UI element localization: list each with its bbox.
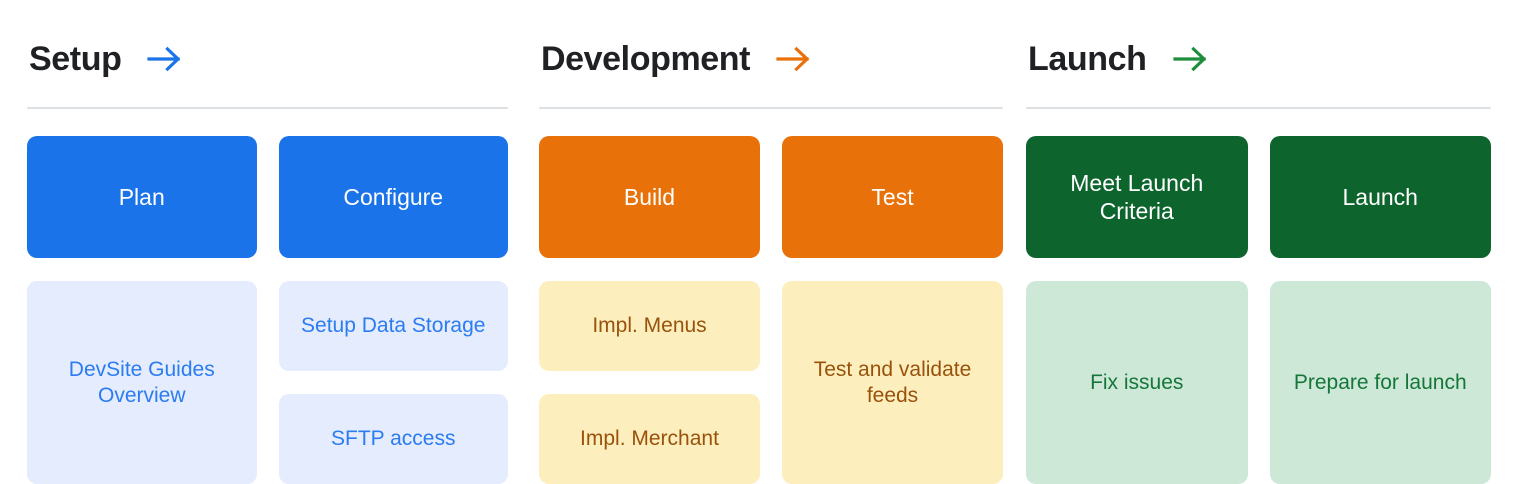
card-sftp-access[interactable]: SFTP access xyxy=(279,394,509,484)
arrow-right-icon xyxy=(147,45,183,73)
phase-launch-title: Launch xyxy=(1028,42,1147,76)
phase-launch-divider xyxy=(1026,107,1491,109)
phase-setup: Setup Plan DevSite Guides Overview Confi… xyxy=(0,0,520,484)
subcards-test: Test and validate feeds xyxy=(782,281,1003,484)
column-configure: Configure Setup Data Storage SFTP access xyxy=(279,136,509,484)
workflow-board: Setup Plan DevSite Guides Overview Confi… xyxy=(0,0,1518,484)
card-prepare-for-launch[interactable]: Prepare for launch xyxy=(1270,281,1492,484)
card-build[interactable]: Build xyxy=(539,136,760,258)
column-test: Test Test and validate feeds xyxy=(782,136,1003,484)
column-build: Build Impl. Menus Impl. Merchant xyxy=(539,136,760,484)
card-impl-merchant[interactable]: Impl. Merchant xyxy=(539,394,760,484)
card-test[interactable]: Test xyxy=(782,136,1003,258)
subcards-meet-launch-criteria: Fix issues xyxy=(1026,281,1248,484)
phase-launch-header: Launch xyxy=(1026,30,1491,88)
card-configure[interactable]: Configure xyxy=(279,136,509,258)
arrow-right-icon xyxy=(1173,45,1209,73)
card-test-and-validate-feeds[interactable]: Test and validate feeds xyxy=(782,281,1003,484)
column-launch: Launch Prepare for launch xyxy=(1270,136,1492,484)
card-meet-launch-criteria[interactable]: Meet Launch Criteria xyxy=(1026,136,1248,258)
phase-setup-title: Setup xyxy=(29,42,121,76)
phase-setup-header: Setup xyxy=(27,30,508,88)
phase-setup-cards: Plan DevSite Guides Overview Configure S… xyxy=(27,136,508,484)
subcards-configure: Setup Data Storage SFTP access xyxy=(279,281,509,484)
column-meet-launch-criteria: Meet Launch Criteria Fix issues xyxy=(1026,136,1248,484)
card-devsite-guides-overview[interactable]: DevSite Guides Overview xyxy=(27,281,257,484)
arrow-right-icon xyxy=(776,45,812,73)
card-fix-issues[interactable]: Fix issues xyxy=(1026,281,1248,484)
card-plan[interactable]: Plan xyxy=(27,136,257,258)
phase-launch-cards: Meet Launch Criteria Fix issues Launch P… xyxy=(1026,136,1491,484)
phase-development-divider xyxy=(539,107,1003,109)
phase-development-cards: Build Impl. Menus Impl. Merchant Test Te… xyxy=(539,136,1003,484)
phase-development-title: Development xyxy=(541,42,750,76)
card-setup-data-storage[interactable]: Setup Data Storage xyxy=(279,281,509,371)
phase-development-header: Development xyxy=(539,30,1003,88)
card-impl-menus[interactable]: Impl. Menus xyxy=(539,281,760,371)
column-plan: Plan DevSite Guides Overview xyxy=(27,136,257,484)
phase-setup-divider xyxy=(27,107,508,109)
phase-launch: Launch Meet Launch Criteria Fix issues L… xyxy=(1015,0,1518,484)
subcards-plan: DevSite Guides Overview xyxy=(27,281,257,484)
card-launch[interactable]: Launch xyxy=(1270,136,1492,258)
subcards-build: Impl. Menus Impl. Merchant xyxy=(539,281,760,484)
phase-development: Development Build Impl. Menus Impl. Merc… xyxy=(520,0,1015,484)
subcards-launch: Prepare for launch xyxy=(1270,281,1492,484)
